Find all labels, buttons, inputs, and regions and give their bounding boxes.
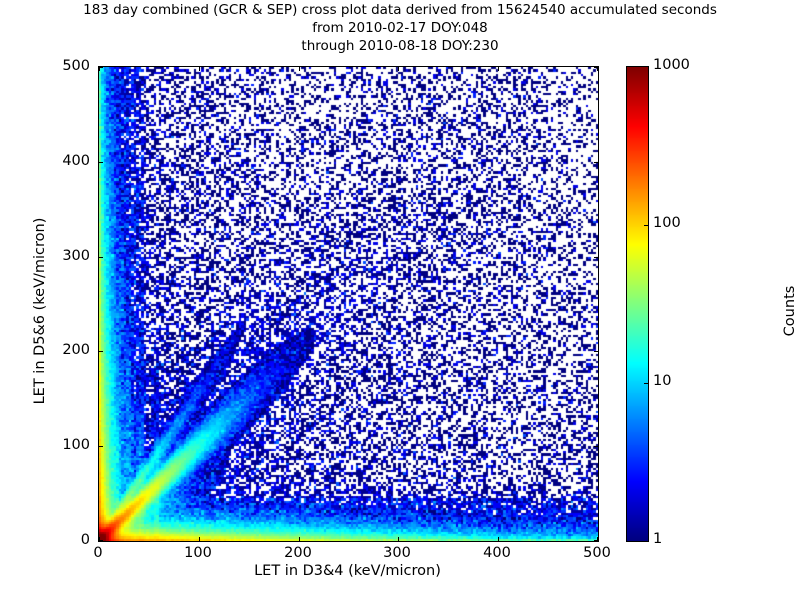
x-tick	[398, 537, 399, 541]
colorbar-tick-label: 100	[653, 215, 681, 231]
y-tick	[99, 540, 103, 541]
y-axis-label: LET in D5&6 (keV/micron)	[32, 111, 48, 511]
y-tick	[594, 446, 598, 447]
y-tick	[99, 162, 103, 163]
y-tick	[594, 351, 598, 352]
x-tick-label: 100	[184, 545, 212, 561]
x-tick-label: 0	[93, 545, 102, 561]
colorbar-label: Counts	[782, 111, 798, 511]
y-tick	[594, 257, 598, 258]
x-tick	[299, 67, 300, 71]
x-tick	[498, 537, 499, 541]
chart-title: 183 day combined (GCR & SEP) cross plot …	[0, 1, 800, 55]
y-tick-label: 300	[62, 248, 90, 264]
y-tick-label: 0	[81, 532, 90, 548]
x-tick-label: 500	[583, 545, 611, 561]
y-tick	[99, 67, 103, 68]
y-tick-label: 100	[62, 437, 90, 453]
y-tick-label: 500	[62, 58, 90, 74]
y-tick	[99, 257, 103, 258]
colorbar-tick-label: 10	[653, 373, 671, 389]
x-tick-label: 200	[284, 545, 312, 561]
x-tick	[199, 537, 200, 541]
y-tick	[594, 540, 598, 541]
y-tick-label: 200	[62, 342, 90, 358]
x-tick-label: 300	[383, 545, 411, 561]
y-tick	[99, 351, 103, 352]
colorbar-gradient	[627, 67, 648, 541]
colorbar	[626, 66, 649, 542]
x-axis-label: LET in D3&4 (keV/micron)	[98, 563, 597, 579]
plot-area	[98, 66, 599, 542]
y-tick-label: 400	[62, 153, 90, 169]
title-line-1: 183 day combined (GCR & SEP) cross plot …	[0, 1, 800, 19]
y-tick	[594, 67, 598, 68]
x-tick	[199, 67, 200, 71]
y-tick	[594, 162, 598, 163]
title-line-3: through 2010-08-18 DOY:230	[0, 37, 800, 55]
scatter-density-plot	[99, 67, 598, 541]
x-tick	[498, 67, 499, 71]
x-tick-label: 400	[483, 545, 511, 561]
title-line-2: from 2010-02-17 DOY:048	[0, 19, 800, 37]
colorbar-tick	[644, 383, 648, 384]
colorbar-tick-label: 1	[653, 531, 662, 547]
y-tick	[99, 446, 103, 447]
colorbar-tick	[644, 225, 648, 226]
x-tick	[299, 537, 300, 541]
figure-canvas: 183 day combined (GCR & SEP) cross plot …	[0, 0, 800, 600]
colorbar-tick-label: 1000	[653, 57, 690, 73]
x-tick	[398, 67, 399, 71]
